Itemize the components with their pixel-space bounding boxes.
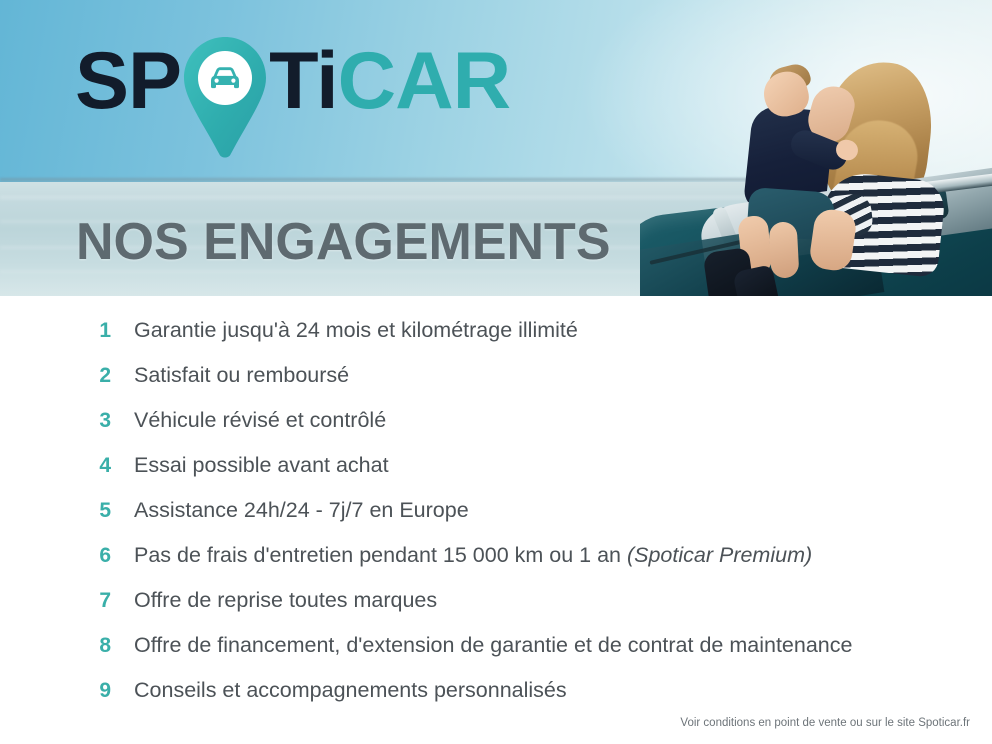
list-item-label: Pas de frais d'entretien pendant 15 000 …: [134, 543, 812, 568]
logo-text-ti: Ti: [269, 38, 338, 124]
list-item-label: Véhicule révisé et contrôlé: [134, 408, 386, 433]
list-item-number: 8: [69, 634, 111, 658]
spoticar-logo: SP: [75, 38, 510, 148]
list-item-label: Essai possible avant achat: [134, 453, 389, 478]
list-item-label: Conseils et accompagnements personnalisé…: [134, 678, 567, 703]
list-item: 3 Véhicule révisé et contrôlé: [0, 408, 992, 453]
list-item: 7 Offre de reprise toutes marques: [0, 588, 992, 633]
list-item: 1 Garantie jusqu'à 24 mois et kilométrag…: [0, 318, 992, 363]
list-item-number: 9: [69, 679, 111, 703]
child-leg-right: [769, 221, 800, 278]
legal-footnote: Voir conditions en point de vente ou sur…: [680, 717, 970, 729]
list-item-text-emphasis: (Spoticar Premium): [627, 543, 812, 567]
list-item-number: 2: [69, 364, 111, 388]
list-item: 8 Offre de financement, d'extension de g…: [0, 633, 992, 678]
list-item-text-main: Pas de frais d'entretien pendant 15 000 …: [134, 543, 627, 567]
list-item: 5 Assistance 24h/24 - 7j/7 en Europe: [0, 498, 992, 543]
spoticar-commitments-page: SP: [0, 0, 992, 744]
list-item: 6 Pas de frais d'entretien pendant 15 00…: [0, 543, 992, 588]
list-item-number: 7: [69, 589, 111, 613]
list-item-number: 6: [69, 544, 111, 568]
list-item: 2 Satisfait ou remboursé: [0, 363, 992, 408]
list-item-label: Offre de financement, d'extension de gar…: [134, 633, 852, 658]
commitments-list: 1 Garantie jusqu'à 24 mois et kilométrag…: [0, 318, 992, 723]
page-title: NOS ENGAGEMENTS: [76, 212, 611, 272]
list-item-number: 1: [69, 319, 111, 343]
list-item-number: 3: [69, 409, 111, 433]
list-item-label: Offre de reprise toutes marques: [134, 588, 437, 613]
list-item-label: Assistance 24h/24 - 7j/7 en Europe: [134, 498, 469, 523]
list-item: 4 Essai possible avant achat: [0, 453, 992, 498]
list-item-label: Garantie jusqu'à 24 mois et kilométrage …: [134, 318, 578, 343]
map-pin-car-icon: [181, 38, 269, 124]
logo-text-car: CAR: [338, 38, 511, 124]
list-item-number: 4: [69, 454, 111, 478]
logo-text-sp: SP: [75, 38, 181, 124]
list-item-number: 5: [69, 499, 111, 523]
hero-banner: SP: [0, 0, 992, 296]
hero-photo: [640, 0, 992, 296]
list-item-label: Satisfait ou remboursé: [134, 363, 349, 388]
